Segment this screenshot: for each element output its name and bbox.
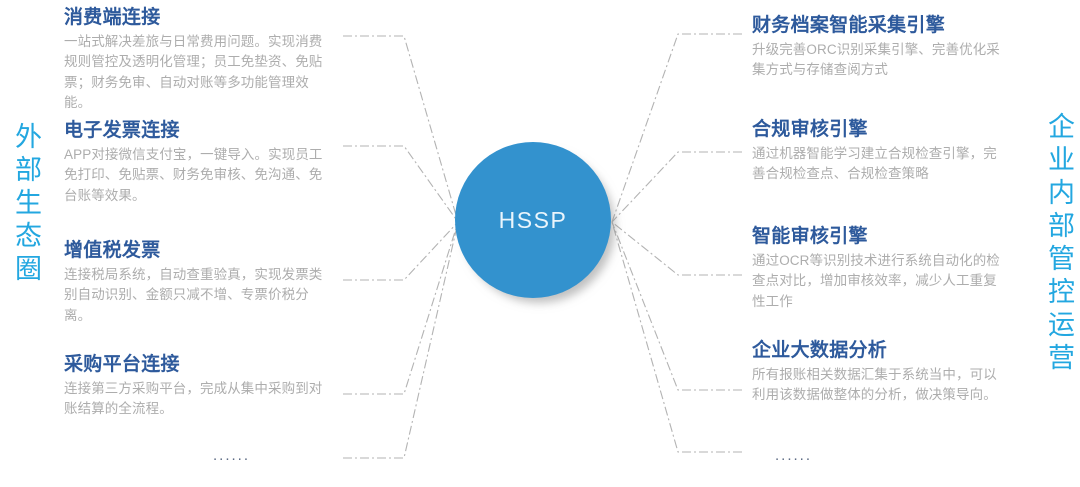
connector-right-5 — [612, 222, 742, 452]
feature-description: 升级完善ORC识别采集引擎、完善优化采集方式与存储查阅方式 — [752, 40, 1004, 81]
feature-block-left-3[interactable]: 增值税发票 连接税局系统，自动查重验真，实现发票类别自动识别、金额只减不增、专票… — [64, 239, 332, 326]
hub-label: HSSP — [499, 207, 568, 234]
feature-block-right-1[interactable]: 财务档案智能采集引擎 升级完善ORC识别采集引擎、完善优化采集方式与存储查阅方式 — [752, 14, 1004, 81]
connector-right-4 — [612, 222, 742, 390]
feature-block-left-4[interactable]: 采购平台连接 连接第三方采购平台，完成从集中采购到对账结算的全流程。 — [64, 353, 332, 420]
feature-block-right-3[interactable]: 智能审核引擎 通过OCR等识别技术进行系统自动化的检查点对比，增加审核效率，减少… — [752, 225, 1004, 312]
feature-description: 通过OCR等识别技术进行系统自动化的检查点对比，增加审核效率，减少人工重复性工作 — [752, 251, 1004, 313]
connector-right-3 — [612, 222, 742, 275]
connector-left-2 — [343, 146, 458, 222]
side-label-right: 企业内部管控运营 — [1045, 112, 1072, 376]
feature-description: 所有报账相关数据汇集于系统当中，可以利用该数据做整体的分析，做决策导向。 — [752, 365, 1004, 406]
diagram-canvas: 外部生态圈 企业内部管控运营 HSSP 消费端连接 一站式解决差旅与日常费用问题… — [0, 0, 1080, 487]
connector-left-5 — [343, 222, 458, 458]
feature-description: 连接第三方采购平台，完成从集中采购到对账结算的全流程。 — [64, 379, 332, 420]
feature-title: 采购平台连接 — [64, 353, 332, 377]
ellipsis-marker-right: ...... — [775, 448, 812, 463]
feature-block-left-2[interactable]: 电子发票连接 APP对接微信支付宝，一键导入。实现员工免打印、免贴票、财务免审核… — [64, 119, 332, 206]
feature-description: 通过机器智能学习建立合规检查引擎，完善合规检查点、合规检查策略 — [752, 144, 1004, 185]
feature-description: 一站式解决差旅与日常费用问题。实现消费规则管控及透明化管理；员工免垫资、免贴票；… — [64, 32, 332, 114]
connector-right-2 — [612, 152, 742, 222]
hub-circle[interactable]: HSSP — [455, 142, 611, 298]
connector-left-1 — [343, 36, 458, 222]
feature-description: 连接税局系统，自动查重验真，实现发票类别自动识别、金额只减不增、专票价税分离。 — [64, 265, 332, 327]
feature-title: 智能审核引擎 — [752, 225, 1004, 249]
connector-left-4 — [343, 222, 458, 394]
ellipsis-marker-left: ...... — [213, 448, 250, 463]
feature-title: 电子发票连接 — [64, 119, 332, 143]
feature-description: APP对接微信支付宝，一键导入。实现员工免打印、免贴票、财务免审核、免沟通、免台… — [64, 145, 332, 207]
feature-title: 合规审核引擎 — [752, 118, 1004, 142]
feature-block-left-1[interactable]: 消费端连接 一站式解决差旅与日常费用问题。实现消费规则管控及透明化管理；员工免垫… — [64, 6, 332, 114]
feature-block-right-4[interactable]: 企业大数据分析 所有报账相关数据汇集于系统当中，可以利用该数据做整体的分析，做决… — [752, 339, 1004, 406]
feature-title: 企业大数据分析 — [752, 339, 1004, 363]
feature-block-right-2[interactable]: 合规审核引擎 通过机器智能学习建立合规检查引擎，完善合规检查点、合规检查策略 — [752, 118, 1004, 185]
feature-title: 增值税发票 — [64, 239, 332, 263]
connector-left-3 — [343, 222, 458, 280]
feature-title: 财务档案智能采集引擎 — [752, 14, 1004, 38]
connector-right-1 — [612, 34, 742, 222]
side-label-left: 外部生态圈 — [12, 122, 39, 287]
feature-title: 消费端连接 — [64, 6, 332, 30]
